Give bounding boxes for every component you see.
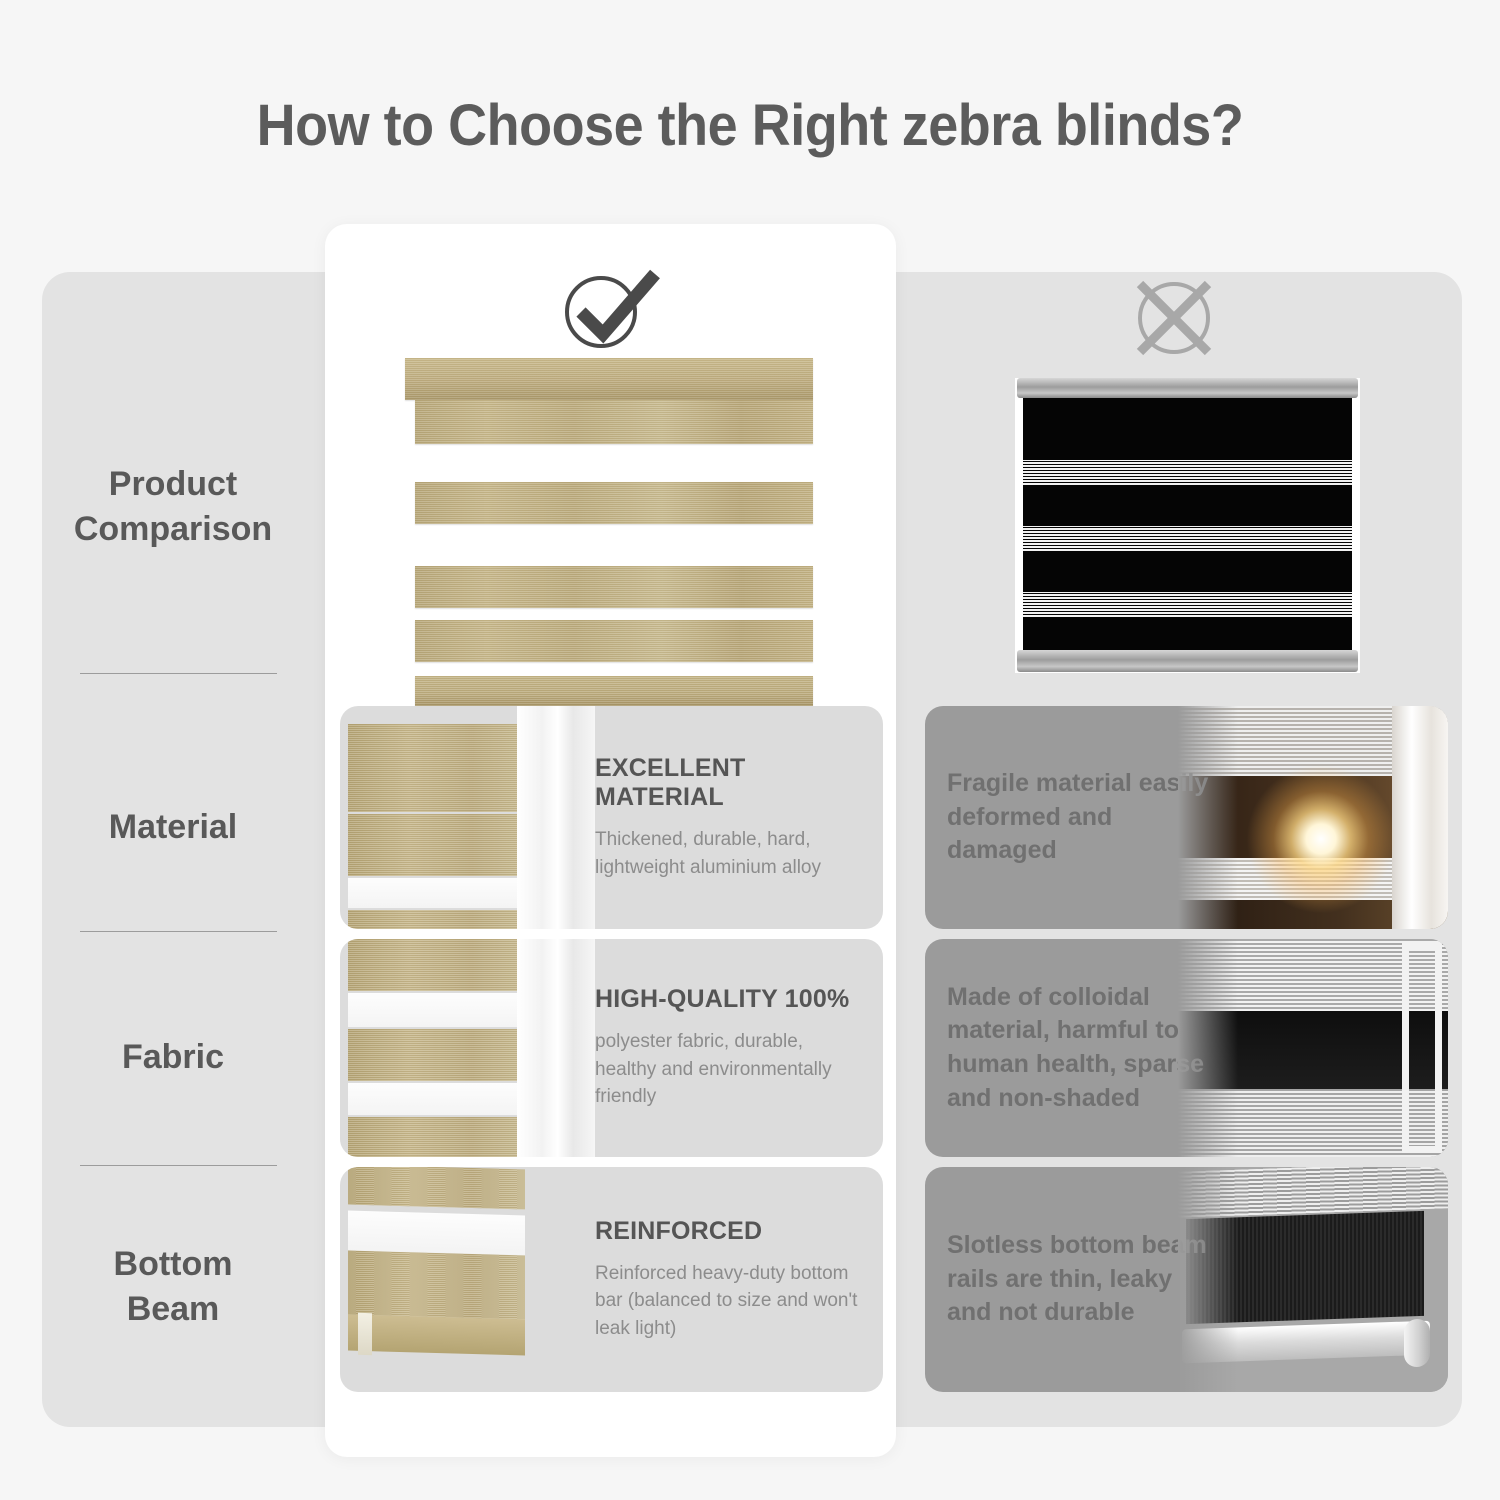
blind-slat [415, 482, 813, 524]
page-title: How to Choose the Right zebra blinds? [53, 92, 1448, 159]
hero-bad-product-image [1015, 378, 1360, 673]
hero-good-product-image [405, 358, 813, 696]
sun-flare [1246, 764, 1396, 914]
bad-card-bottom-beam: Slotless bottom beam rails are thin, lea… [925, 1167, 1448, 1392]
blind-band [348, 1117, 525, 1157]
sidebar-label-material: Material [109, 805, 238, 850]
blind-band [348, 724, 525, 812]
blind-headrail [405, 358, 813, 400]
sidebar-divider [80, 931, 277, 932]
blind-band [348, 939, 525, 991]
sparse-fabric-photo [1178, 939, 1448, 1157]
photo-fade-overlay [1178, 939, 1238, 1157]
good-card-text-fabric: HIGH-QUALITY 100% polyester fabric, dura… [595, 939, 875, 1157]
window-frame [517, 939, 595, 1157]
good-card-material: EXCELLENT MATERIAL Thickened, durable, h… [340, 706, 883, 929]
window-frame [1402, 943, 1442, 1153]
photo-fade-overlay [1178, 706, 1238, 929]
sidebar-divider [80, 673, 277, 674]
sidebar-row-fabric: Fabric [42, 972, 304, 1142]
blind-bottom-rail [1017, 650, 1358, 672]
sheer-band [348, 993, 525, 1027]
bad-card-fabric: Made of colloidal material, harmful to h… [925, 939, 1448, 1157]
sheer-band [348, 878, 525, 908]
sheer-band [348, 1083, 525, 1115]
blind-slat [415, 400, 813, 444]
blind-stack [348, 706, 525, 929]
sun-glare-photo [1178, 706, 1448, 929]
blind-band [348, 1167, 525, 1209]
blind-band [348, 814, 525, 876]
blind-bottom-bar [415, 676, 813, 706]
good-card-text-material: EXCELLENT MATERIAL Thickened, durable, h… [595, 706, 875, 929]
sidebar-row-product-comparison: ProductComparison [42, 422, 304, 592]
good-heading-fabric: HIGH-QUALITY 100% [595, 985, 867, 1014]
good-body-bottom-beam: Reinforced heavy-duty bottom bar (balanc… [595, 1260, 867, 1343]
beige-blind-bottom-bar-photo [340, 1167, 595, 1392]
beige-blind-fabric-photo [340, 939, 595, 1157]
blind-band [348, 1251, 525, 1322]
sidebar-label-bottom-beam: BottomBeam [114, 1242, 233, 1332]
good-card-fabric: HIGH-QUALITY 100% polyester fabric, dura… [340, 939, 883, 1157]
blind-stack [348, 1167, 525, 1392]
blind-stack [348, 939, 525, 1157]
blind-band [348, 1029, 525, 1081]
blind-slat [415, 566, 813, 608]
sidebar-row-bottom-beam: BottomBeam [42, 1202, 304, 1372]
bad-card-material: Fragile material easily deformed and dam… [925, 706, 1448, 929]
sheer-stripe [1023, 592, 1352, 618]
sheer-stripe [1023, 460, 1352, 486]
blind-body [1023, 398, 1352, 650]
blind-band [348, 910, 525, 929]
slotless-rail-photo [1178, 1167, 1448, 1392]
bottom-rail-endcap [1404, 1319, 1430, 1368]
category-sidebar: ProductComparison Material Fabric Bottom… [42, 272, 304, 1427]
bottom-bar-endcap [358, 1313, 372, 1355]
good-card-bottom-beam: REINFORCED Reinforced heavy-duty bottom … [340, 1167, 883, 1392]
sidebar-label-product-comparison: ProductComparison [74, 462, 272, 552]
blind-slat [415, 620, 813, 662]
good-body-material: Thickened, durable, hard, lightweight al… [595, 826, 867, 881]
beige-blind-headrail-photo [340, 706, 595, 929]
sidebar-label-fabric: Fabric [122, 1035, 224, 1080]
sheer-stripe [1023, 526, 1352, 552]
cross-circle-icon [1120, 272, 1228, 364]
sidebar-divider [80, 1165, 277, 1166]
window-frame [1392, 706, 1448, 929]
sidebar-row-material: Material [42, 742, 304, 912]
good-heading-bottom-beam: REINFORCED [595, 1217, 867, 1246]
blind-headrail [1017, 378, 1358, 398]
photo-fade-overlay [1178, 1167, 1238, 1392]
good-heading-material: EXCELLENT MATERIAL [595, 754, 867, 812]
good-body-fabric: polyester fabric, durable, healthy and e… [595, 1028, 867, 1111]
check-circle-icon [555, 262, 663, 354]
blind-bottom-bar [348, 1315, 525, 1356]
window-frame [517, 706, 595, 929]
good-card-text-bottom-beam: REINFORCED Reinforced heavy-duty bottom … [595, 1167, 875, 1392]
